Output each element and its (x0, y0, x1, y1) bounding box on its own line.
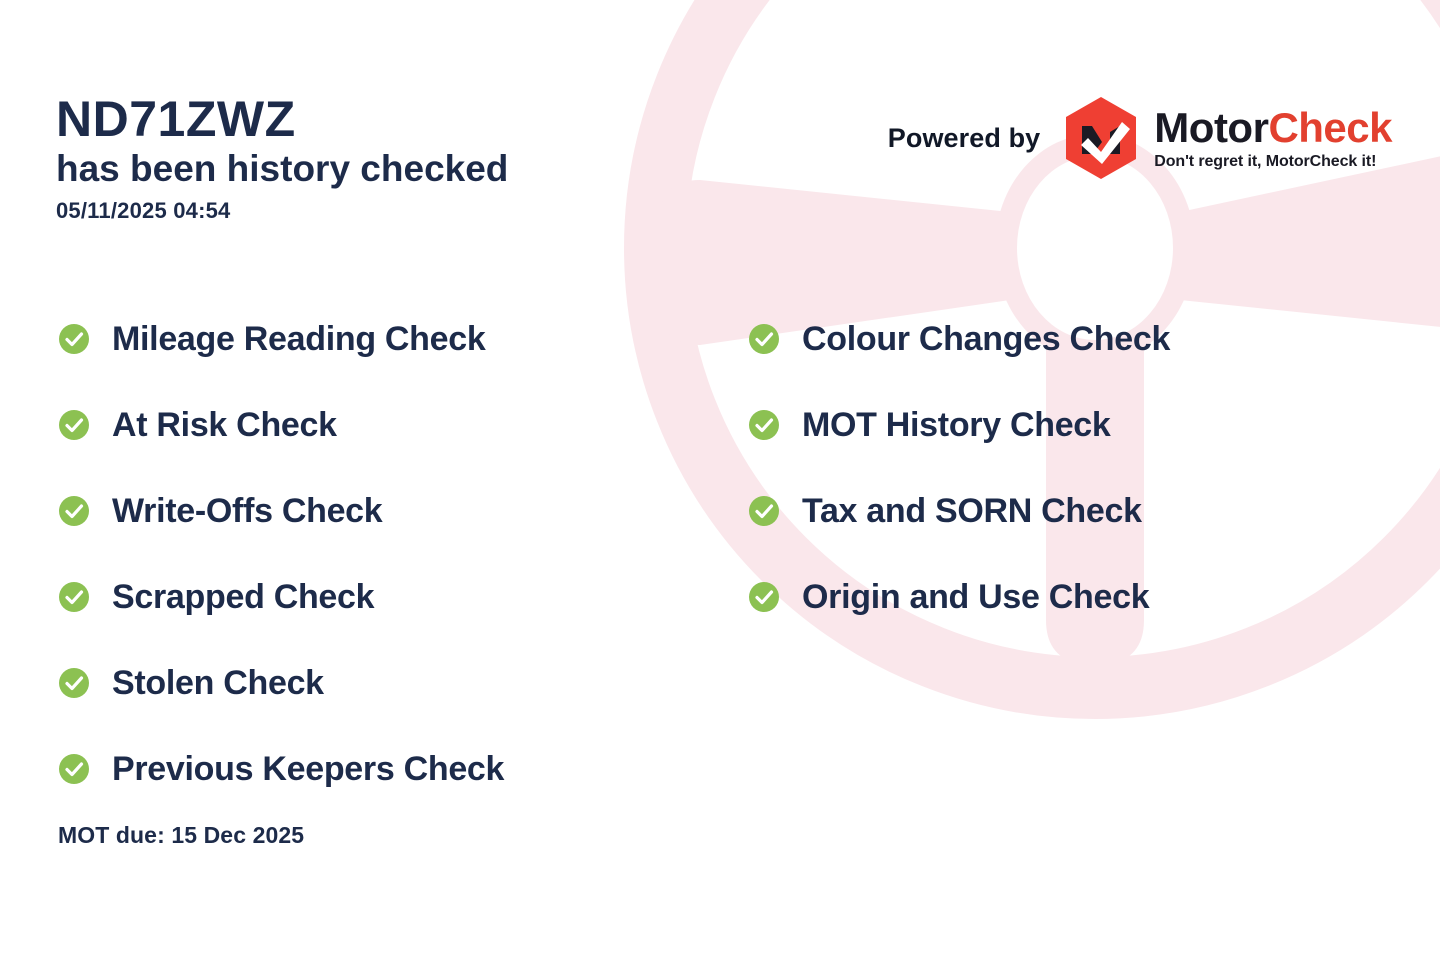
motorcheck-wordmark: MotorCheck Don't regret it, MotorCheck i… (1154, 107, 1392, 170)
checks-left-column: Mileage Reading Check At Risk Check Writ… (58, 296, 504, 812)
check-label: Mileage Reading Check (112, 322, 485, 356)
list-item: Tax and SORN Check (748, 468, 1170, 554)
list-item: Stolen Check (58, 640, 504, 726)
list-item: Origin and Use Check (748, 554, 1170, 640)
check-label: Tax and SORN Check (802, 494, 1142, 528)
brand-tagline: Don't regret it, MotorCheck it! (1154, 154, 1392, 170)
check-circle-icon (748, 409, 780, 441)
check-circle-icon (748, 323, 780, 355)
motorcheck-logo[interactable]: MotorCheck Don't regret it, MotorCheck i… (1062, 96, 1392, 180)
vehicle-registration: ND71ZWZ (56, 92, 508, 146)
list-item: Write-Offs Check (58, 468, 504, 554)
check-circle-icon (58, 323, 90, 355)
wordmark-motor: Motor (1154, 104, 1268, 151)
list-item: Colour Changes Check (748, 296, 1170, 382)
check-label: Scrapped Check (112, 580, 374, 614)
check-circle-icon (748, 581, 780, 613)
check-circle-icon (748, 495, 780, 527)
check-circle-icon (58, 581, 90, 613)
list-item: Previous Keepers Check (58, 726, 504, 812)
check-circle-icon (58, 753, 90, 785)
check-label: Previous Keepers Check (112, 752, 504, 786)
brand-lockup: Powered by MotorCheck Don't regret it, M… (888, 96, 1392, 180)
check-label: Stolen Check (112, 666, 324, 700)
list-item: At Risk Check (58, 382, 504, 468)
check-label: MOT History Check (802, 408, 1111, 442)
wordmark-check: Check (1268, 104, 1392, 151)
check-label: Colour Changes Check (802, 322, 1170, 356)
history-check-card: ND71ZWZ has been history checked 05/11/2… (0, 0, 1440, 960)
check-timestamp: 05/11/2025 04:54 (56, 198, 508, 224)
header-block: ND71ZWZ has been history checked 05/11/2… (56, 92, 508, 224)
check-circle-icon (58, 667, 90, 699)
list-item: Scrapped Check (58, 554, 504, 640)
mot-due-note: MOT due: 15 Dec 2025 (58, 822, 304, 849)
list-item: MOT History Check (748, 382, 1170, 468)
checks-right-column: Colour Changes Check MOT History Check T… (748, 296, 1170, 640)
list-item: Mileage Reading Check (58, 296, 504, 382)
check-circle-icon (58, 409, 90, 441)
check-circle-icon (58, 495, 90, 527)
check-label: Write-Offs Check (112, 494, 382, 528)
check-label: Origin and Use Check (802, 580, 1149, 614)
motorcheck-hexagon-logo-icon (1062, 96, 1140, 180)
page-title: has been history checked (56, 148, 508, 189)
powered-by-label: Powered by (888, 123, 1041, 154)
check-label: At Risk Check (112, 408, 337, 442)
